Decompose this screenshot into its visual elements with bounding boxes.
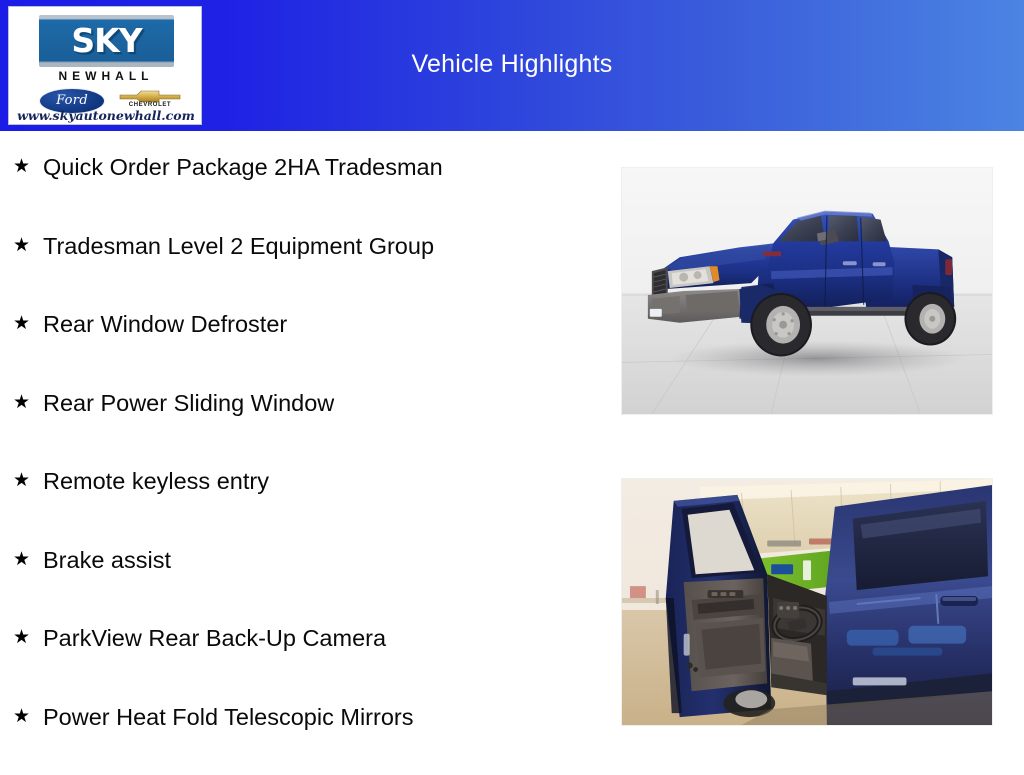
list-item-label: Rear Power Sliding Window bbox=[43, 389, 334, 417]
dealer-location-label: NEWHALL bbox=[9, 69, 202, 83]
list-item: ★ Rear Power Sliding Window bbox=[0, 383, 600, 462]
list-item: ★ Power Heat Fold Telescopic Mirrors bbox=[0, 697, 600, 775]
star-bullet-icon: ★ bbox=[13, 471, 30, 490]
star-bullet-icon: ★ bbox=[13, 157, 30, 176]
list-item: ★ ParkView Rear Back-Up Camera bbox=[0, 618, 600, 697]
interior-door-open-illustration bbox=[622, 479, 992, 725]
exterior-truck-illustration bbox=[622, 168, 992, 414]
star-bullet-icon: ★ bbox=[13, 550, 30, 569]
list-item-label: Brake assist bbox=[43, 546, 171, 574]
list-item-label: Tradesman Level 2 Equipment Group bbox=[43, 232, 434, 260]
sky-wordmark: SKY bbox=[39, 21, 174, 61]
list-item: ★ Quick Order Package 2HA Tradesman bbox=[0, 147, 600, 226]
star-bullet-icon: ★ bbox=[13, 628, 30, 647]
dealer-logo[interactable]: SKY NEWHALL Ford CHEVROLET www.skyautone… bbox=[8, 6, 202, 125]
list-item-label: Remote keyless entry bbox=[43, 467, 269, 495]
star-bullet-icon: ★ bbox=[13, 707, 30, 726]
star-bullet-icon: ★ bbox=[13, 314, 30, 333]
vehicle-interior-photo bbox=[621, 478, 993, 726]
list-item: ★ Rear Window Defroster bbox=[0, 304, 600, 383]
list-item-label: ParkView Rear Back-Up Camera bbox=[43, 624, 386, 652]
vehicle-highlights-list: ★ Quick Order Package 2HA Tradesman ★ Tr… bbox=[0, 147, 600, 775]
list-item: ★ Remote keyless entry bbox=[0, 461, 600, 540]
sky-logo-box: SKY bbox=[39, 15, 174, 67]
vehicle-exterior-photo bbox=[621, 167, 993, 415]
list-item-label: Rear Window Defroster bbox=[43, 310, 287, 338]
ford-wordmark: Ford bbox=[40, 93, 104, 108]
list-item: ★ Tradesman Level 2 Equipment Group bbox=[0, 226, 600, 305]
list-item: ★ Brake assist bbox=[0, 540, 600, 619]
list-item-label: Quick Order Package 2HA Tradesman bbox=[43, 153, 443, 181]
dealer-website-url: www.skyautonewhall.com bbox=[9, 108, 202, 123]
list-item-label: Power Heat Fold Telescopic Mirrors bbox=[43, 703, 413, 731]
star-bullet-icon: ★ bbox=[13, 393, 30, 412]
star-bullet-icon: ★ bbox=[13, 236, 30, 255]
